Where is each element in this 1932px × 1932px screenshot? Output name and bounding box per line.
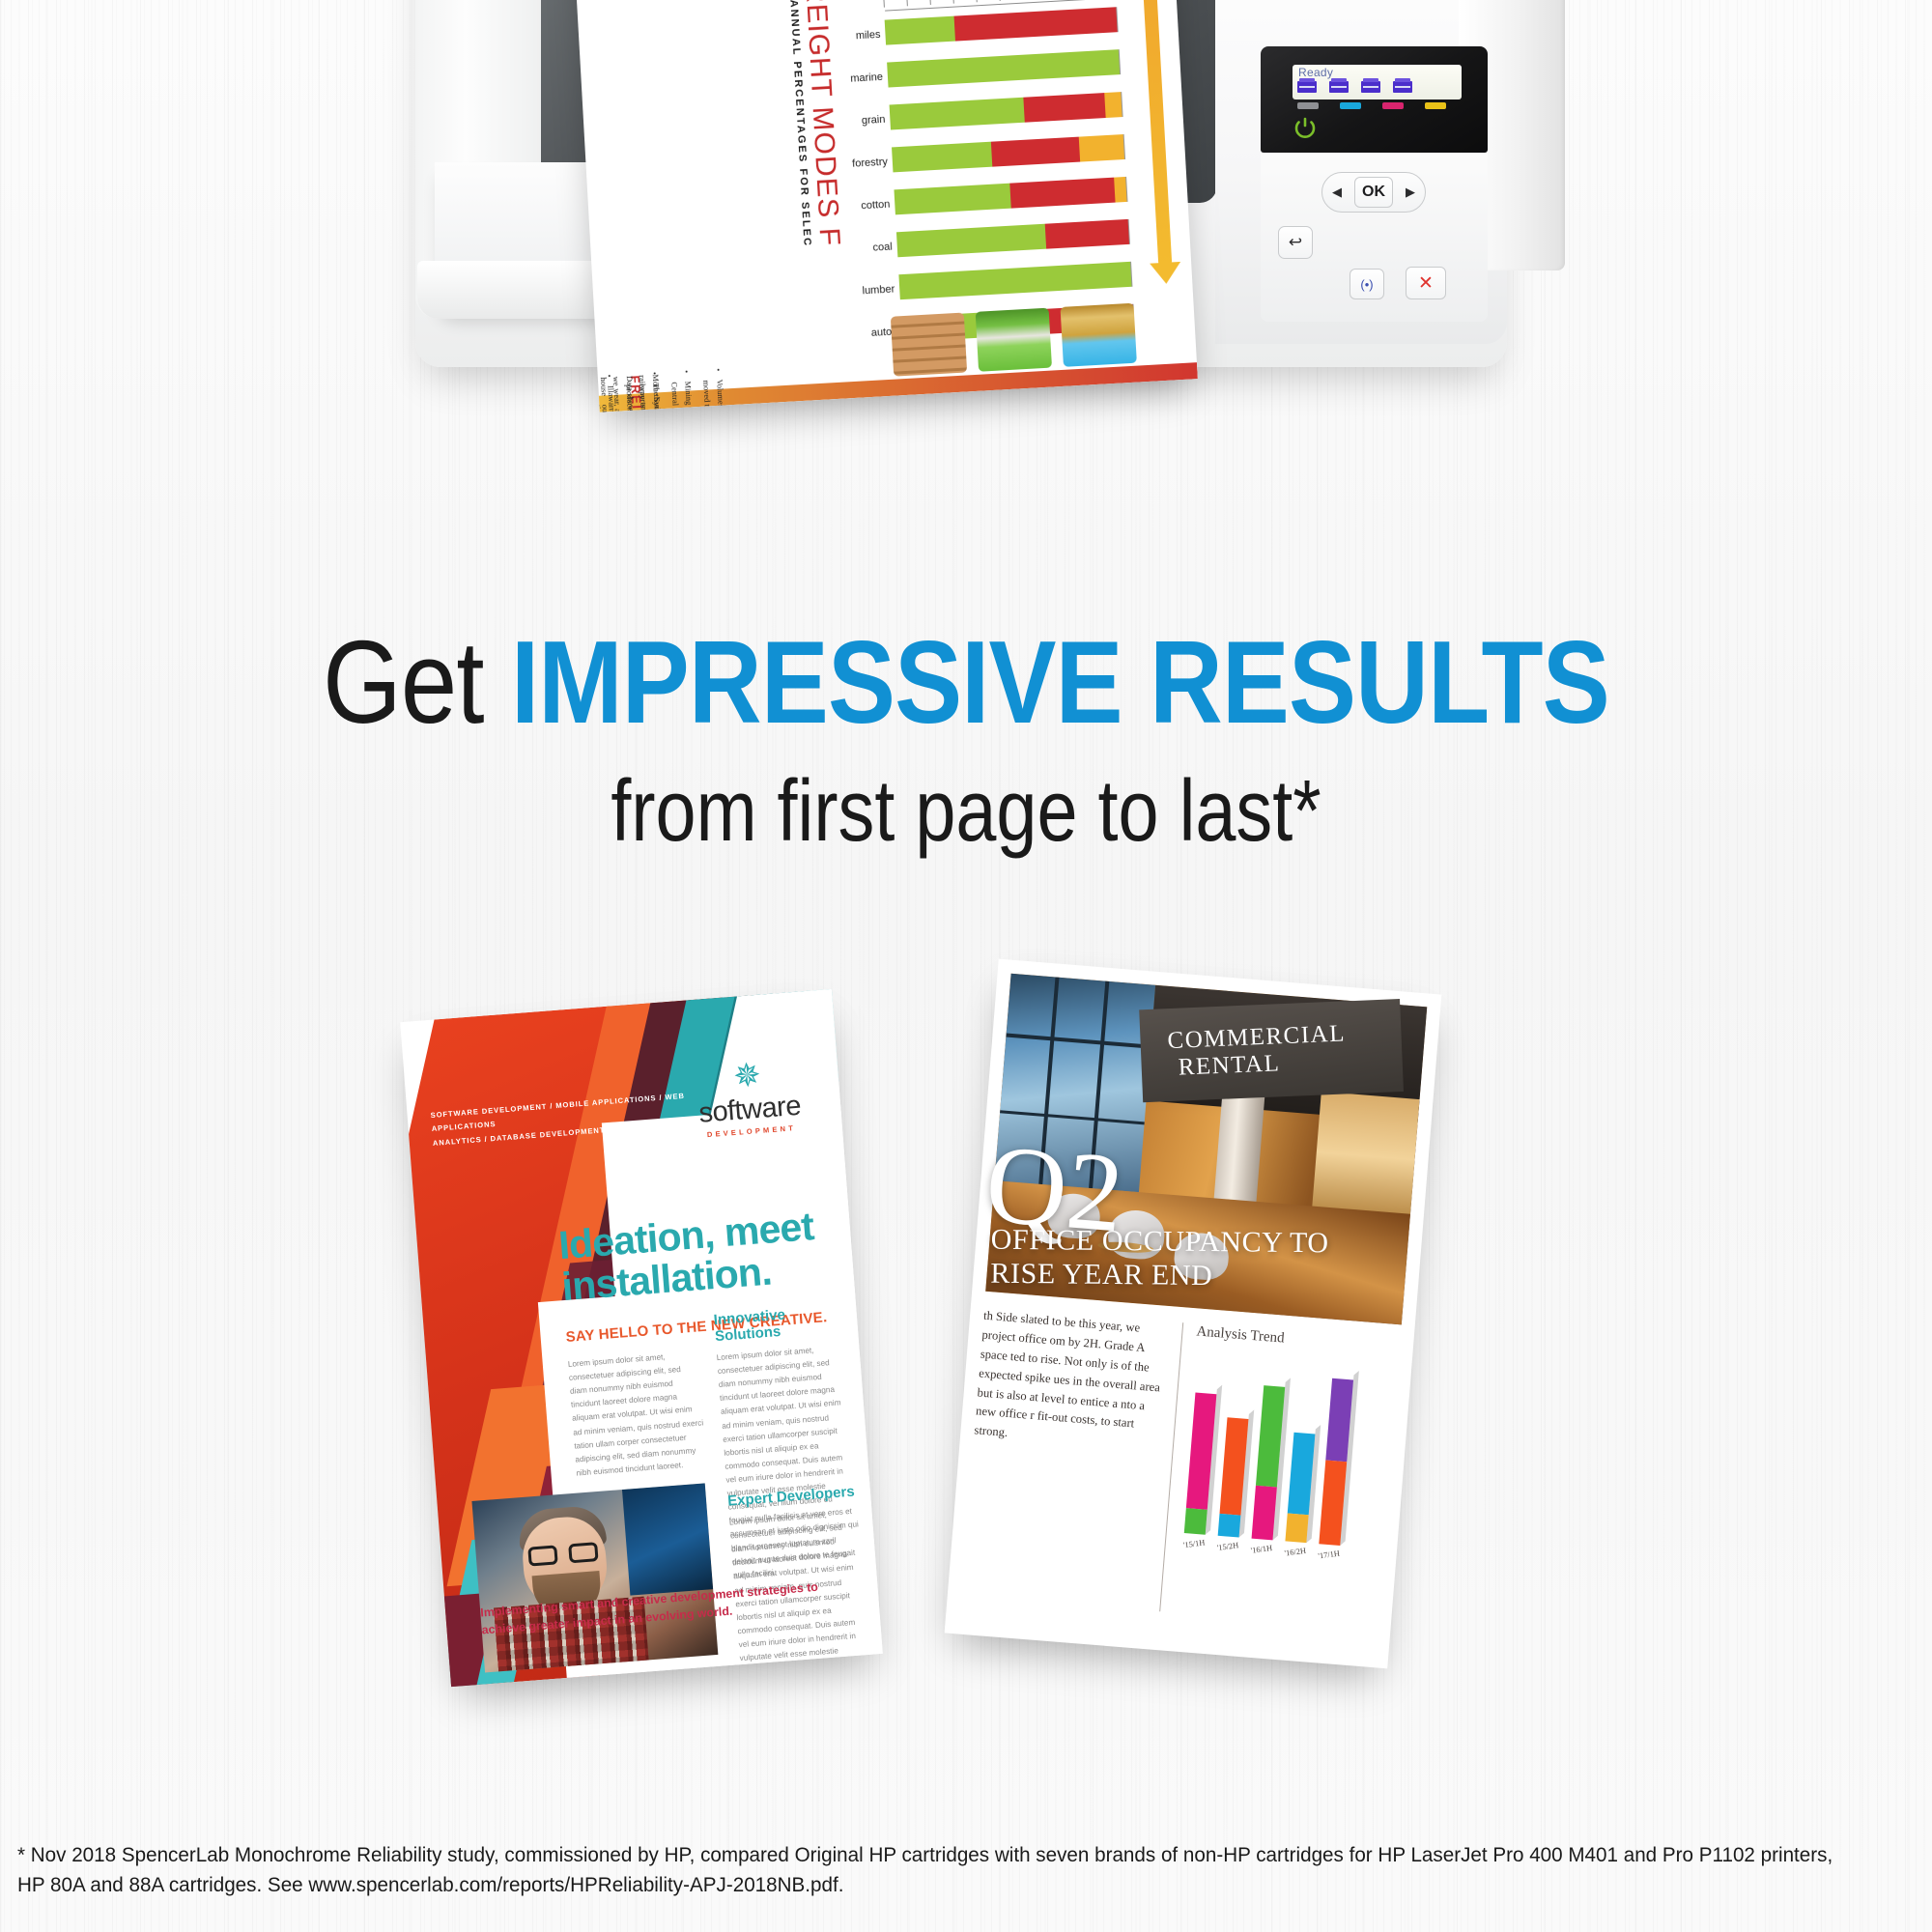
freight-category-label: coal — [872, 241, 893, 254]
freight-bar-segment — [898, 262, 1131, 299]
trend-tick-label: '15/2H — [1216, 1541, 1238, 1552]
freight-bar-segment — [991, 137, 1080, 167]
freight-bar — [895, 177, 1127, 214]
headline-main-line: Get IMPRESSIVE RESULTS — [135, 623, 1797, 741]
computer-monitor — [622, 1483, 713, 1595]
freight-bullet-item: Mining products and grain from the West … — [668, 381, 702, 412]
rental-content: th Side slated to be this year, we proje… — [961, 1307, 1401, 1630]
freight-bullet-item: Illawarra and Port Kembla trading port, … — [590, 385, 625, 412]
chip-magenta — [1382, 102, 1404, 109]
analysis-trend-chart: Analysis Trend '15/1H'15/2H'16/1H'16/2H'… — [1159, 1322, 1400, 1629]
trend-bar-segment — [1319, 1460, 1347, 1546]
headline-emphasis: IMPRESSIVE RESULTS — [511, 616, 1609, 748]
headline-subline: from first page to last* — [155, 766, 1777, 858]
arrow-right-icon[interactable]: ▶ — [1406, 185, 1415, 200]
freight-bar — [897, 219, 1130, 257]
trend-bar-segment — [1219, 1417, 1248, 1516]
trend-bar-segment — [1285, 1513, 1308, 1543]
cartridge-gauge — [1297, 78, 1317, 95]
freight-bar — [893, 134, 1125, 172]
sheep-photo — [976, 308, 1052, 372]
chip-black — [1297, 102, 1319, 109]
cartridge-gauge — [1393, 78, 1412, 95]
trend-tick-label: '17/1H — [1318, 1549, 1340, 1561]
trend-bar — [1285, 1433, 1315, 1544]
trend-bar-segment — [1184, 1508, 1207, 1535]
legal-footnote: * Nov 2018 SpencerLab Monochrome Reliabi… — [17, 1840, 1835, 1899]
freight-bar-segment — [1079, 134, 1124, 162]
freight-category-label: miles — [856, 29, 881, 42]
chip-cyan — [1340, 102, 1361, 109]
freight-text-block: FREIGHT MOVEMENTS IN NEW SOUTH WALES Mor… — [597, 0, 860, 377]
freight-bar-segment — [892, 142, 992, 173]
freight-photo-strip — [891, 303, 1137, 377]
freight-category-label: grain — [862, 114, 886, 127]
software-intro-body: Lorem ipsum dolor sit amet, consectetuer… — [567, 1349, 707, 1481]
lcd-cartridge-gauges — [1297, 78, 1412, 95]
trend-tick-label: '16/1H — [1250, 1544, 1272, 1555]
freight-modes-chart: autoslumbercoalcottonforestrygrainmarine… — [856, 0, 1135, 353]
software-logo: ✵ software DEVELOPMENT — [678, 1054, 819, 1141]
trend-bar-segment — [1256, 1386, 1285, 1488]
freight-bar — [891, 92, 1123, 129]
freight-bar-segment — [896, 224, 1046, 258]
freight-bar-segment — [954, 7, 1118, 41]
marketing-headline: Get IMPRESSIVE RESULTS from first page t… — [0, 623, 1932, 858]
arrow-left-icon[interactable]: ◀ — [1332, 185, 1342, 200]
freight-bar-segment — [1114, 177, 1126, 203]
up-arrow-graphic — [1141, 0, 1172, 265]
commercial-rental-brochure: COMMERCIAL RENTAL Q2 OFFICE OCCUPANCY TO… — [945, 959, 1442, 1669]
trend-bar-segment — [1325, 1378, 1353, 1462]
freight-bar — [899, 262, 1132, 299]
brochure-group: COMMERCIAL RENTAL Q2 OFFICE OCCUPANCY TO… — [0, 1014, 1932, 1787]
cancel-button[interactable]: ✕ — [1406, 267, 1446, 299]
rental-body-text: th Side slated to be this year, we proje… — [961, 1307, 1167, 1610]
control-panel-buttons: ◀ OK ▶ ↩ (•) ✕ — [1261, 153, 1488, 322]
trend-bar — [1252, 1386, 1286, 1541]
rental-headline: OFFICE OCCUPANCY TO RISE YEAR END — [990, 1223, 1397, 1295]
printer-scene: Ready ◀ OK — [0, 0, 1932, 454]
power-ring-icon — [1293, 116, 1318, 141]
trend-tick-label: '15/1H — [1182, 1538, 1205, 1549]
chip-yellow — [1425, 102, 1446, 109]
printer-control-panel[interactable]: Ready ◀ OK — [1261, 46, 1488, 322]
developer-at-desk-photo — [471, 1483, 718, 1672]
cartridge-gauge — [1361, 78, 1380, 95]
trend-bar — [1218, 1417, 1249, 1537]
freight-bar-segment — [1024, 93, 1106, 123]
freight-bar-segment — [887, 49, 1120, 87]
wireless-button[interactable]: (•) — [1350, 269, 1384, 299]
bricks-photo — [891, 313, 967, 377]
cartridge-gauge — [1329, 78, 1349, 95]
freight-category-label: lumber — [862, 284, 895, 298]
software-development-brochure: SOFTWARE DEVELOPMENT / MOBILE APPLICATIO… — [400, 989, 883, 1687]
freight-bar-segment — [1044, 219, 1129, 249]
freight-bar-segment — [894, 184, 1010, 215]
analysis-trend-title: Analysis Trend — [1196, 1323, 1401, 1356]
printed-freight-page: FREIGHT MODES F NSW ANNUAL PERCENTAGES F… — [560, 0, 1198, 412]
wheat-field-photo — [1061, 303, 1137, 367]
trend-bar-segment — [1288, 1433, 1316, 1516]
freight-bar-segment — [1009, 178, 1115, 209]
back-button[interactable]: ↩ — [1278, 226, 1313, 259]
control-panel-bezel: Ready — [1261, 46, 1488, 153]
trend-bar-segment — [1252, 1486, 1277, 1541]
trend-bar — [1184, 1393, 1217, 1535]
navigation-pad[interactable]: ◀ OK ▶ — [1321, 172, 1426, 213]
trend-bars — [1180, 1351, 1398, 1548]
freight-category-label: forestry — [852, 156, 888, 170]
trend-tick-label: '16/2H — [1284, 1547, 1306, 1558]
headline-lead: Get — [323, 616, 511, 748]
freight-bar — [886, 7, 1119, 44]
freight-bar-segment — [1104, 92, 1122, 118]
freight-category-label: marine — [850, 71, 883, 85]
trend-bar — [1319, 1378, 1353, 1546]
trend-bar-segment — [1186, 1393, 1217, 1510]
commercial-rental-sign: COMMERCIAL RENTAL — [1139, 999, 1404, 1102]
lcd-status-text: Ready — [1298, 66, 1333, 79]
freight-bar-segment — [885, 16, 955, 45]
freight-category-label: cotton — [861, 199, 891, 213]
trend-bar-segment — [1218, 1514, 1241, 1537]
lcd-display: Ready — [1293, 65, 1462, 99]
cartridge-color-chips — [1297, 102, 1446, 109]
freight-bar-segment — [890, 98, 1025, 130]
freight-bullet-item: The Sydney metropolitan area imports and… — [622, 383, 670, 412]
ok-button[interactable]: OK — [1354, 177, 1393, 208]
freight-bullet-list: Volumes of coal and mining materials are… — [583, 370, 734, 412]
freight-bar — [888, 49, 1121, 87]
